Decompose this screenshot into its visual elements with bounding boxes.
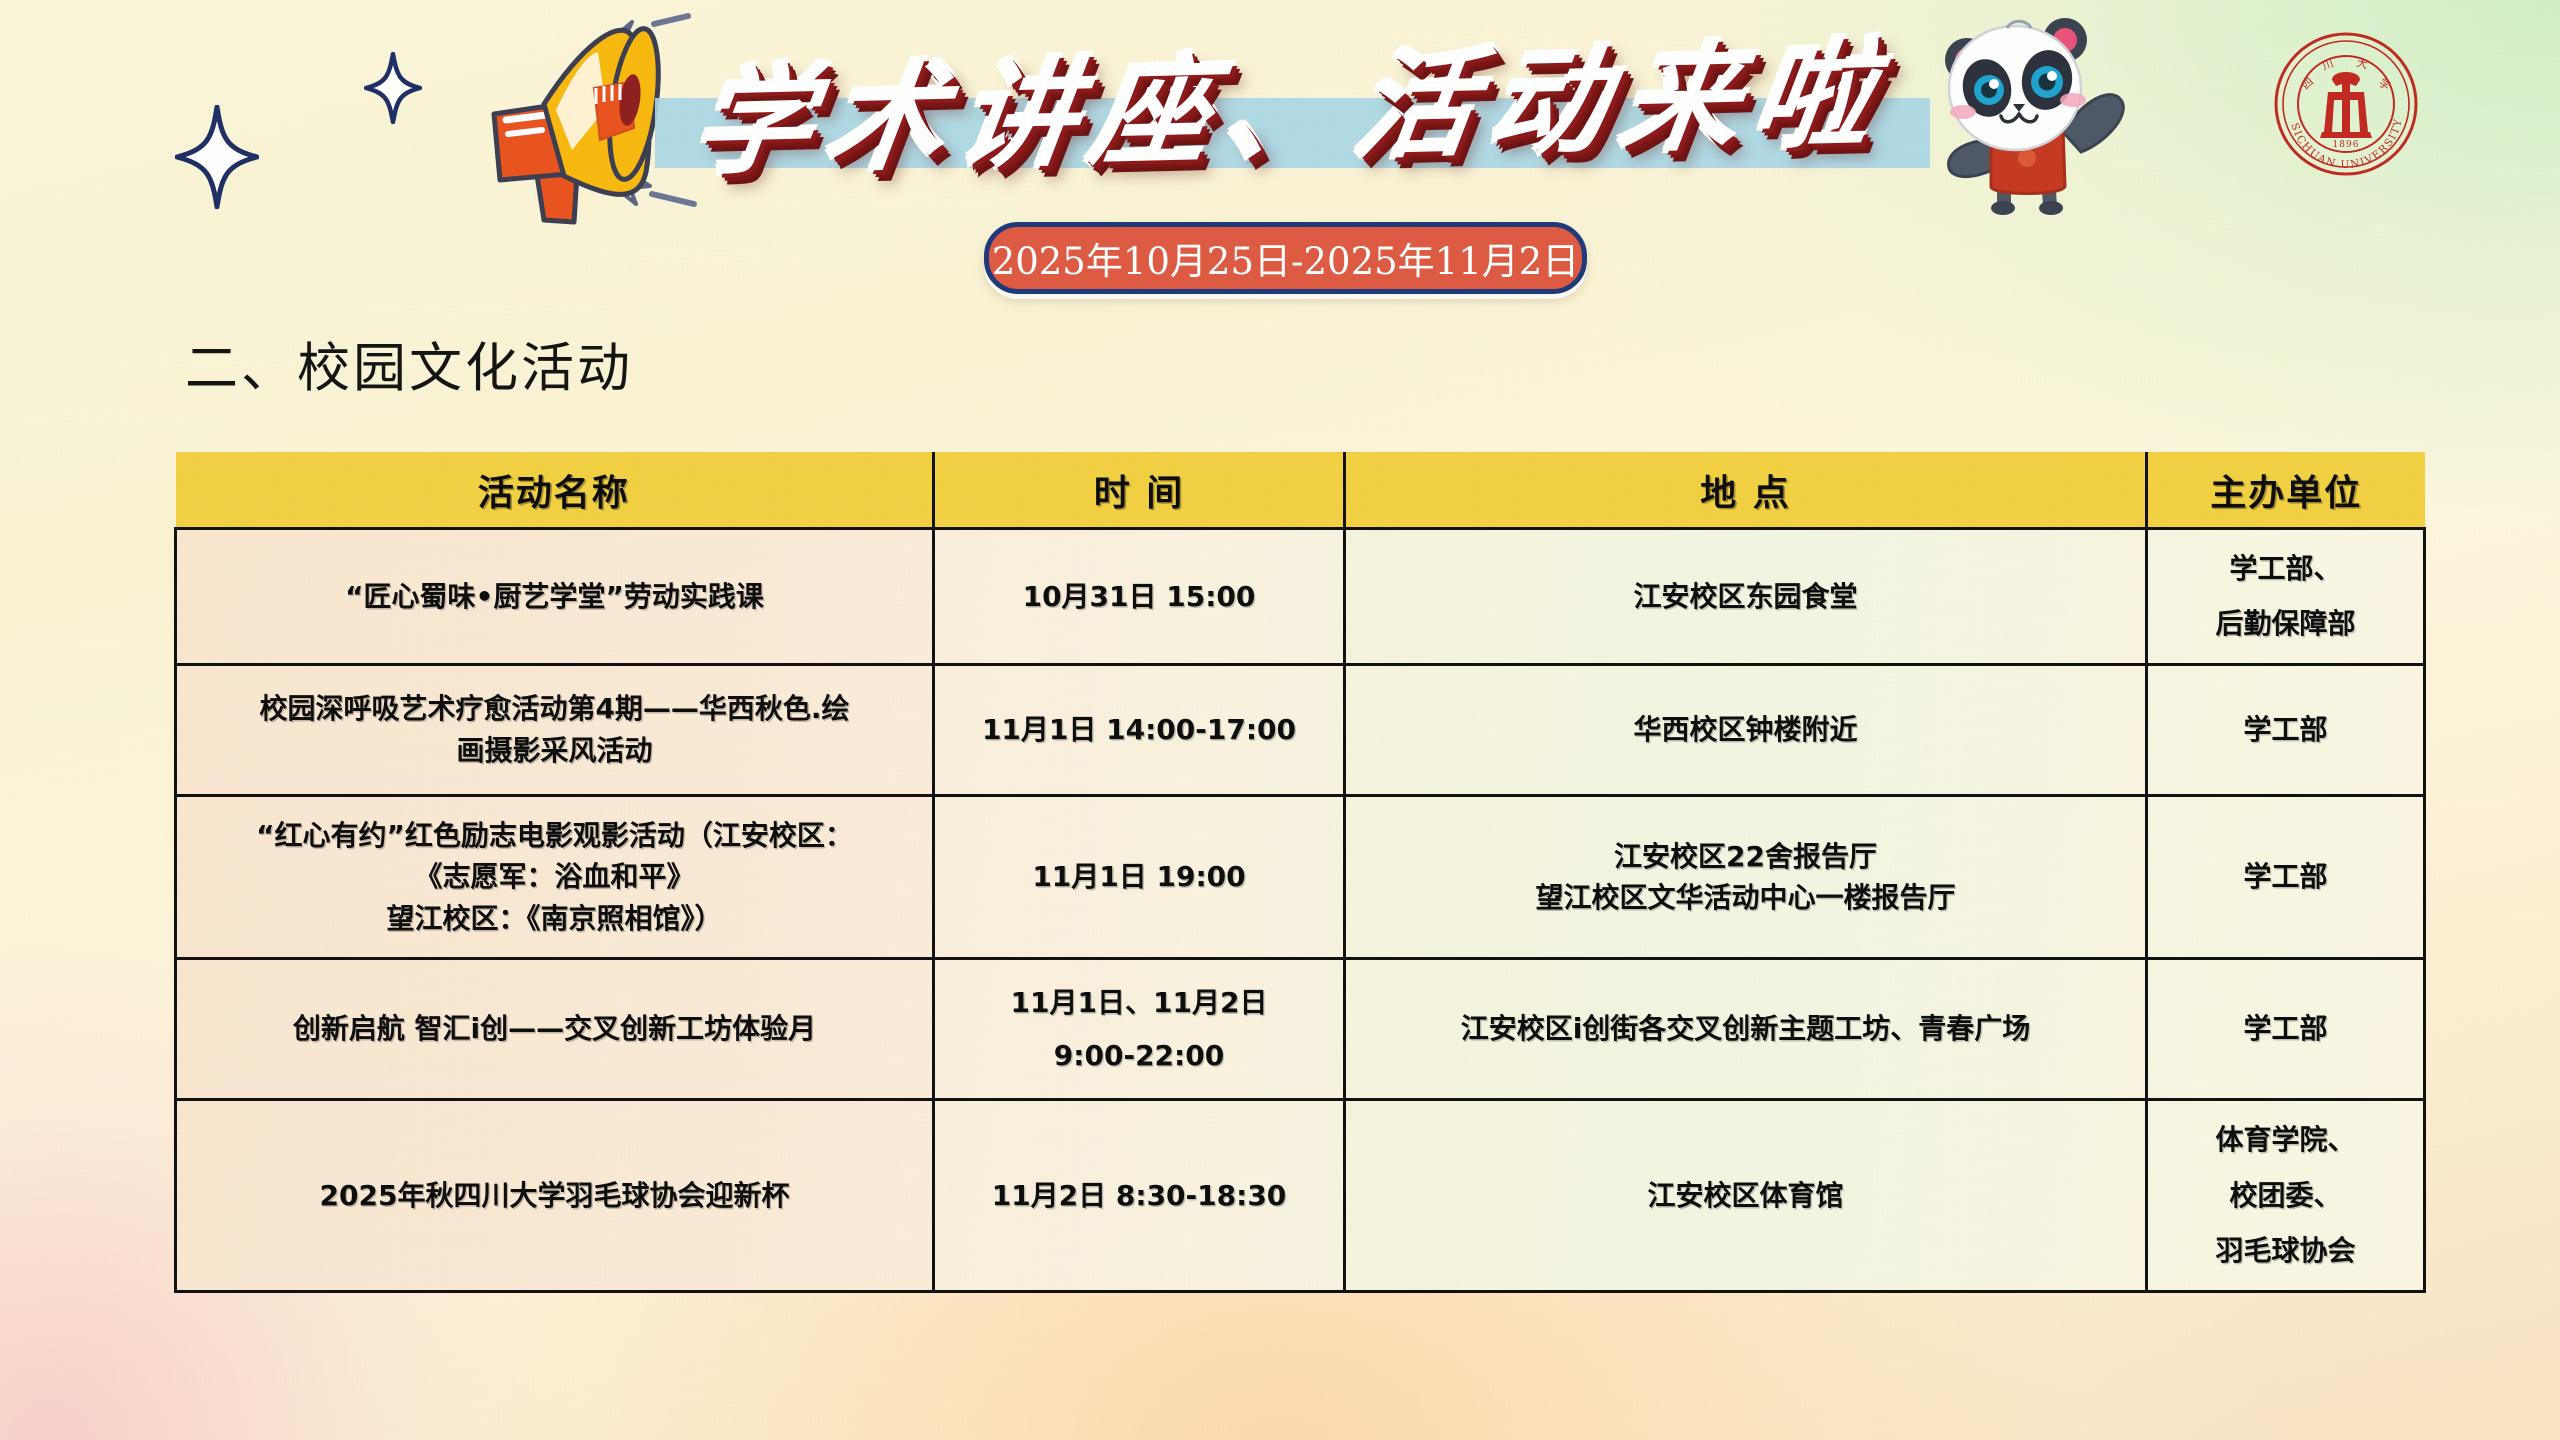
cell-place: 华西校区钟楼附近 [1345, 664, 2147, 795]
cell-place: 江安校区东园食堂 [1345, 529, 2147, 665]
cell-organizer: 学工部、 后勤保障部 [2147, 529, 2425, 665]
svg-text:大: 大 [2355, 55, 2369, 71]
date-range-text: 2025年10月25日-2025年11月2日 [992, 231, 1580, 285]
place-line: 江安校区东园食堂 [1360, 576, 2131, 617]
place-line: 望江校区文华活动中心一楼报告厅 [1360, 877, 2131, 918]
cell-time: 11月1日、11月2日 9:00-22:00 [934, 959, 1345, 1100]
activity-name-line: 2025年秋四川大学羽毛球协会迎新杯 [191, 1175, 918, 1216]
cell-organizer: 学工部 [2147, 959, 2425, 1100]
table-row: “匠心蜀味•厨艺学堂”劳动实践课 10月31日 15:00 江安校区东园食堂 学… [176, 529, 2425, 665]
organizer-line: 校团委、 [2162, 1175, 2409, 1216]
cell-time: 11月2日 8:30-18:30 [934, 1100, 1345, 1291]
sparkle-icon [175, 105, 259, 209]
place-line: 江安校区体育馆 [1360, 1175, 2131, 1216]
cell-organizer: 学工部 [2147, 664, 2425, 795]
cell-activity-name: “匠心蜀味•厨艺学堂”劳动实践课 [176, 529, 934, 665]
activity-name-line: 创新启航 智汇i创——交叉创新工坊体验月 [191, 1008, 918, 1049]
activity-name-line: 望江校区：《南京照相馆》） [191, 898, 918, 939]
svg-text:1896: 1896 [2333, 140, 2360, 150]
time-line: 10月31日 15:00 [949, 576, 1329, 617]
schedule-table: 活动名称 时 间 地 点 主办单位 “匠心蜀味•厨艺学堂”劳动实践课 10月31… [174, 452, 2426, 1293]
table-row: “红心有约”红色励志电影观影活动（江安校区： 《志愿军：浴血和平》 望江校区：《… [176, 795, 2425, 958]
organizer-line: 学工部 [2162, 709, 2409, 750]
table-row: 创新启航 智汇i创——交叉创新工坊体验月 11月1日、11月2日 9:00-22… [176, 959, 2425, 1100]
organizer-line: 体育学院、 [2162, 1119, 2409, 1160]
place-line: 江安校区22舍报告厅 [1360, 836, 2131, 877]
cell-time: 10月31日 15:00 [934, 529, 1345, 665]
cell-place: 江安校区i创街各交叉创新主题工坊、青春广场 [1345, 959, 2147, 1100]
column-header-activity-name: 活动名称 [176, 452, 934, 529]
time-line: 9:00-22:00 [949, 1035, 1329, 1076]
table-header-row: 活动名称 时 间 地 点 主办单位 [176, 452, 2425, 529]
organizer-line: 学工部 [2162, 856, 2409, 897]
table-row: 校园深呼吸艺术疗愈活动第4期——华西秋色.绘 画摄影采风活动 11月1日 14:… [176, 664, 2425, 795]
svg-text:学: 学 [2376, 75, 2393, 93]
column-header-time: 时 间 [934, 452, 1345, 529]
table-row: 2025年秋四川大学羽毛球协会迎新杯 11月2日 8:30-18:30 江安校区… [176, 1100, 2425, 1291]
place-line: 江安校区i创街各交叉创新主题工坊、青春广场 [1360, 1008, 2131, 1049]
cell-place: 江安校区体育馆 [1345, 1100, 2147, 1291]
cell-activity-name: 创新启航 智汇i创——交叉创新工坊体验月 [176, 959, 934, 1100]
cell-time: 11月1日 19:00 [934, 795, 1345, 958]
column-header-organizer: 主办单位 [2147, 452, 2425, 529]
activity-name-line: 校园深呼吸艺术疗愈活动第4期——华西秋色.绘 [191, 688, 918, 729]
organizer-line: 学工部 [2162, 1008, 2409, 1049]
svg-text:川: 川 [2320, 57, 2335, 73]
activity-name-line: “匠心蜀味•厨艺学堂”劳动实践课 [191, 576, 918, 617]
svg-text:四: 四 [2299, 75, 2316, 92]
place-line: 华西校区钟楼附近 [1360, 709, 2131, 750]
cell-activity-name: 校园深呼吸艺术疗愈活动第4期——华西秋色.绘 画摄影采风活动 [176, 664, 934, 795]
cell-organizer: 学工部 [2147, 795, 2425, 958]
organizer-line: 后勤保障部 [2162, 603, 2409, 644]
cell-time: 11月1日 14:00-17:00 [934, 664, 1345, 795]
section-heading: 二、校园文化活动 [185, 326, 633, 402]
cell-activity-name: “红心有约”红色励志电影观影活动（江安校区： 《志愿军：浴血和平》 望江校区：《… [176, 795, 934, 958]
date-range-badge: 2025年10月25日-2025年11月2日 [984, 222, 1587, 294]
activity-name-line: 画摄影采风活动 [191, 730, 918, 771]
cell-place: 江安校区22舍报告厅 望江校区文华活动中心一楼报告厅 [1345, 795, 2147, 958]
organizer-line: 羽毛球协会 [2162, 1230, 2409, 1271]
activity-name-line: “红心有约”红色励志电影观影活动（江安校区： [191, 815, 918, 856]
time-line: 11月1日、11月2日 [949, 982, 1329, 1023]
schedule-table-container: 活动名称 时 间 地 点 主办单位 “匠心蜀味•厨艺学堂”劳动实践课 10月31… [174, 452, 2423, 1293]
poster-canvas: 1896 四 川 大 学 SICHUAN UNIVERSITY 学术讲座、活动来… [0, 0, 2560, 1440]
cell-organizer: 体育学院、 校团委、 羽毛球协会 [2147, 1100, 2425, 1291]
page-title: 学术讲座、活动来啦 [627, 12, 1953, 203]
organizer-line: 学工部、 [2162, 548, 2409, 589]
column-header-place: 地 点 [1345, 452, 2147, 529]
time-line: 11月1日 19:00 [949, 856, 1329, 897]
time-line: 11月1日 14:00-17:00 [949, 709, 1329, 750]
sichuan-university-logo-icon: 1896 四 川 大 学 SICHUAN UNIVERSITY [2272, 30, 2420, 178]
activity-name-line: 《志愿军：浴血和平》 [191, 856, 918, 897]
time-line: 11月2日 8:30-18:30 [949, 1175, 1329, 1216]
cell-activity-name: 2025年秋四川大学羽毛球协会迎新杯 [176, 1100, 934, 1291]
